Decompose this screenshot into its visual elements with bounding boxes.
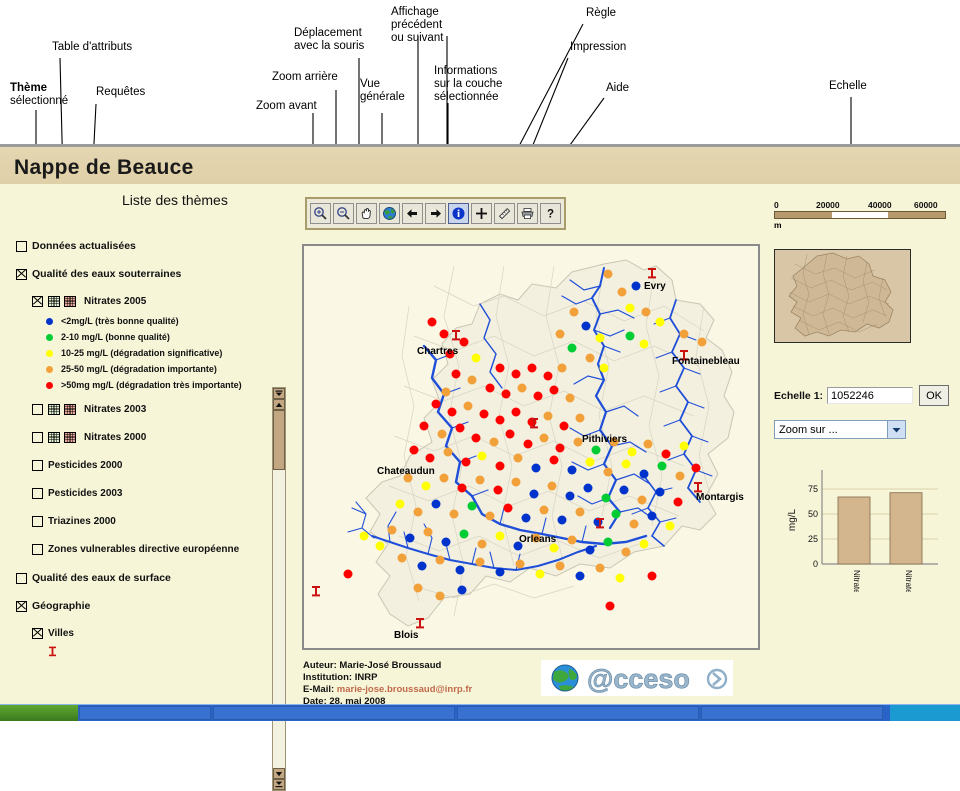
scroll-up-button[interactable] <box>273 399 285 410</box>
arrow-left-icon <box>405 206 420 221</box>
zoom-to-select[interactable]: Zoom sur ... <box>774 420 906 439</box>
overview-map-graphic <box>775 250 909 341</box>
zoom-in-button[interactable] <box>310 203 331 224</box>
checkbox-nitrates-2003[interactable] <box>32 404 43 415</box>
theme-row-pesticides-2003[interactable]: Pesticides 2003 <box>32 488 123 499</box>
theme-label: Villes <box>48 628 74 639</box>
theme-row-zones-vulnerables[interactable]: Zones vulnerables directive européenne <box>32 544 239 555</box>
attribute-table-icon[interactable] <box>48 432 60 443</box>
theme-panel-scrollbar[interactable] <box>272 387 286 791</box>
annotation-zoom-avant: Zoom avant <box>256 100 317 113</box>
bar-chart-graphic: mg/L 0 25 50 75 Nitrates_03 N <box>786 462 946 592</box>
scale-bar-unit: m <box>774 220 946 230</box>
ruler-icon <box>497 206 512 221</box>
checkbox-nitrates-2000[interactable] <box>32 432 43 443</box>
previous-view-button[interactable] <box>402 203 423 224</box>
theme-label: Qualité des eaux de surface <box>32 572 171 584</box>
legend-item: 2-10 mg/L (bonne qualité) <box>46 332 170 342</box>
checkbox-donnees-actualisees[interactable] <box>16 241 27 252</box>
coordinates-button[interactable] <box>471 203 492 224</box>
taskbar-item[interactable] <box>701 706 883 720</box>
annotation-theme-selectionne: Thème <box>10 82 47 95</box>
annotation-aide: Aide <box>606 82 629 95</box>
checkbox-triazines-2000[interactable] <box>32 516 43 527</box>
zoom-out-icon <box>336 206 351 221</box>
chart-ytick-0: 0 <box>813 559 818 569</box>
annotation-echelle: Echelle <box>829 80 867 93</box>
taskbar-item[interactable] <box>457 706 699 720</box>
zoom-to-select-value: Zoom sur ... <box>775 424 887 436</box>
scale-input-label: Echelle 1: <box>774 390 823 402</box>
attribute-table-icon[interactable] <box>48 296 60 307</box>
windows-taskbar <box>0 704 960 721</box>
annotation-deplacement-souris: Déplacementavec la souris <box>294 27 364 53</box>
checkbox-nitrates-2005[interactable] <box>32 296 43 307</box>
acceso-logo-icon: @cceso <box>541 660 733 696</box>
city-label-chartres: Chartres <box>417 346 458 357</box>
next-view-button[interactable] <box>425 203 446 224</box>
theme-label: Pesticides 2000 <box>48 460 123 471</box>
legend-item: 10-25 mg/L (dégradation significative) <box>46 348 222 358</box>
theme-row-donnees-actualisees[interactable]: Données actualisées <box>16 240 136 252</box>
theme-label: Géographie <box>32 600 90 612</box>
chart-ytick-25: 25 <box>808 534 818 544</box>
page-title: Nappe de Beauce <box>14 156 194 180</box>
annotation-vue-generale: Vuegénérale <box>360 78 405 104</box>
layer-info-button[interactable] <box>448 203 469 224</box>
theme-label: Nitrates 2003 <box>84 404 146 415</box>
scroll-top-icon <box>275 390 283 397</box>
checkbox-villes[interactable] <box>32 628 43 639</box>
city-label-chateaudun: Chateaudun <box>377 466 435 477</box>
print-button[interactable] <box>517 203 538 224</box>
svg-text:@cceso: @cceso <box>587 664 690 694</box>
annotation-affichage-precedent: Affichageprécédentou suivant <box>391 6 443 45</box>
credits-email-link[interactable]: marie-jose.broussaud@inrp.fr <box>337 684 472 695</box>
annotation-impression: Impression <box>570 41 626 54</box>
city-label-evry: Evry <box>644 281 666 292</box>
query-icon[interactable] <box>64 404 76 415</box>
scale-ok-button[interactable]: OK <box>919 385 949 406</box>
credits-email-row: E-Mail: marie-jose.broussaud@inrp.fr <box>303 684 472 696</box>
scale-input[interactable] <box>827 387 913 404</box>
scroll-to-top-button[interactable] <box>273 388 285 399</box>
query-icon[interactable] <box>64 432 76 443</box>
arrow-right-icon <box>428 206 443 221</box>
start-button[interactable] <box>0 705 78 721</box>
overview-map[interactable] <box>774 249 911 343</box>
chart-bar-nitrates-03 <box>838 497 870 564</box>
chart-ylabel: mg/L <box>787 508 798 531</box>
zoom-out-button[interactable] <box>333 203 354 224</box>
theme-label: Zones vulnerables directive européenne <box>48 544 239 555</box>
scale-bar: 0 20000 40000 60000 m <box>774 200 946 230</box>
legend-item: <2mg/L (très bonne qualité) <box>46 316 179 326</box>
taskbar-item[interactable] <box>79 706 211 720</box>
legend-label: >50mg mg/L (dégradation très importante) <box>61 380 242 390</box>
theme-row-geographie[interactable]: Géographie <box>16 600 90 612</box>
application-window: Nappe de Beauce Liste des thèmes <box>0 144 960 704</box>
chevron-up-icon <box>275 402 283 408</box>
globe-icon <box>382 206 397 221</box>
legend-swatch <box>46 350 53 357</box>
chart-bar-nitrates-05 <box>890 493 922 564</box>
query-icon[interactable] <box>64 296 76 307</box>
annotation-table-attributs: Table d'attributs <box>52 41 132 54</box>
credits-author: Auteur: Marie-José Broussaud <box>303 660 472 672</box>
city-label-fontainebleau: Fontainebleau <box>672 356 740 367</box>
ruler-button[interactable] <box>494 203 515 224</box>
info-icon <box>451 206 466 221</box>
chevron-down-icon <box>275 771 283 777</box>
theme-row-villes[interactable]: Villes <box>32 628 74 639</box>
attribute-table-icon[interactable] <box>48 404 60 415</box>
themes-heading: Liste des thèmes <box>122 192 228 208</box>
legend-swatch <box>46 366 53 373</box>
app-header: Nappe de Beauce <box>0 147 960 184</box>
scroll-bottom-icon <box>275 781 283 788</box>
scale-tick-0: 0 <box>774 200 779 210</box>
checkbox-qualite-eaux-surface[interactable] <box>16 573 27 584</box>
svg-text:?: ? <box>547 209 554 221</box>
theme-label: Pesticides 2003 <box>48 488 123 499</box>
legend-swatch <box>46 318 53 325</box>
checkbox-qualite-eaux-souterraines[interactable] <box>16 269 27 280</box>
theme-row-nitrates-2003[interactable]: Nitrates 2003 <box>32 404 146 415</box>
nitrates-bar-chart: mg/L 0 25 50 75 Nitrates_03 N <box>786 462 946 592</box>
legend-label: 25-50 mg/L (dégradation importante) <box>61 364 217 374</box>
annotation-zoom-arriere: Zoom arrière <box>272 71 338 84</box>
scale-tick-60000: 60000 <box>914 200 938 210</box>
theme-row-nitrates-2000[interactable]: Nitrates 2000 <box>32 432 146 443</box>
annotation-informations-couche: Informationssur la couchesélectionnée <box>434 65 502 104</box>
theme-row-nitrates-2005[interactable]: Nitrates 2005 <box>32 296 146 307</box>
legend-label: 10-25 mg/L (dégradation significative) <box>61 348 222 358</box>
map-canvas[interactable]: Evry Chartres Fontainebleau Pithiviers C… <box>302 244 760 650</box>
city-pin-icon <box>48 646 57 658</box>
taskbar-item[interactable] <box>213 706 455 720</box>
scale-input-row: Echelle 1: OK <box>774 385 949 406</box>
chart-xtick-nitrates-03: Nitrates_03 <box>852 570 861 592</box>
checkbox-geographie[interactable] <box>16 601 27 612</box>
zoom-in-icon <box>313 206 328 221</box>
checkbox-pesticides-2003[interactable] <box>32 488 43 499</box>
theme-row-pesticides-2000[interactable]: Pesticides 2000 <box>32 460 123 471</box>
theme-row-triazines-2000[interactable]: Triazines 2000 <box>32 516 116 527</box>
system-tray[interactable] <box>890 705 960 721</box>
help-button[interactable]: ? <box>540 203 561 224</box>
theme-label: Données actualisées <box>32 240 136 252</box>
pan-hand-button[interactable] <box>356 203 377 224</box>
scrollbar-thumb[interactable] <box>273 410 285 470</box>
legend-label: 2-10 mg/L (bonne qualité) <box>61 332 170 342</box>
annotation-theme-selectionne-line2: sélectionné <box>10 95 68 108</box>
legend-swatch <box>46 382 53 389</box>
chevron-down-glyph <box>892 427 901 433</box>
scale-bar-ticks: 0 20000 40000 60000 <box>774 200 946 211</box>
checkbox-pesticides-2000[interactable] <box>32 460 43 471</box>
scroll-down-button[interactable] <box>273 768 285 779</box>
theme-label: Triazines 2000 <box>48 516 116 527</box>
city-label-pithiviers: Pithiviers <box>582 434 627 445</box>
theme-label: Qualité des eaux souterraines <box>32 268 181 280</box>
crosshair-icon <box>474 206 489 221</box>
scale-tick-40000: 40000 <box>868 200 892 210</box>
credits-email-label: E-Mail: <box>303 684 334 695</box>
chart-xtick-nitrates-05: Nitrates_05 <box>904 570 913 592</box>
legend-item: >50mg mg/L (dégradation très importante) <box>46 380 242 390</box>
city-label-orleans: Orleans <box>519 534 556 545</box>
scale-bar-graphic <box>774 211 946 219</box>
theme-label: Nitrates 2000 <box>84 432 146 443</box>
scroll-to-bottom-button[interactable] <box>273 779 285 790</box>
map-graphic <box>304 246 758 648</box>
chart-ytick-75: 75 <box>808 484 818 494</box>
theme-row-qualite-eaux-souterraines[interactable]: Qualité des eaux souterraines <box>16 268 181 280</box>
chart-ytick-50: 50 <box>808 509 818 519</box>
legend-swatch <box>46 334 53 341</box>
globe-button[interactable] <box>379 203 400 224</box>
theme-list-panel: Données actualisées Qualité des eaux sou… <box>10 240 272 650</box>
credits-institution: Institution: INRP <box>303 672 472 684</box>
chevron-down-icon[interactable] <box>887 421 905 438</box>
theme-label: Nitrates 2005 <box>84 296 146 307</box>
acceso-logo[interactable]: @cceso <box>541 660 733 696</box>
legend-label: <2mg/L (très bonne qualité) <box>61 316 179 326</box>
scale-tick-20000: 20000 <box>816 200 840 210</box>
credits-block: Auteur: Marie-José Broussaud Institution… <box>303 660 472 708</box>
checkbox-zones-vulnerables[interactable] <box>32 544 43 555</box>
legend-item: 25-50 mg/L (dégradation importante) <box>46 364 217 374</box>
pan-hand-icon <box>359 206 374 221</box>
city-label-blois: Blois <box>394 630 418 641</box>
printer-icon <box>520 206 535 221</box>
annotation-requetes: Requêtes <box>96 86 145 99</box>
theme-row-qualite-eaux-surface[interactable]: Qualité des eaux de surface <box>16 572 171 584</box>
annotation-regle: Règle <box>586 7 616 20</box>
city-label-montargis: Montargis <box>696 492 744 503</box>
help-icon: ? <box>543 206 558 221</box>
map-toolbar: ? <box>305 197 566 230</box>
